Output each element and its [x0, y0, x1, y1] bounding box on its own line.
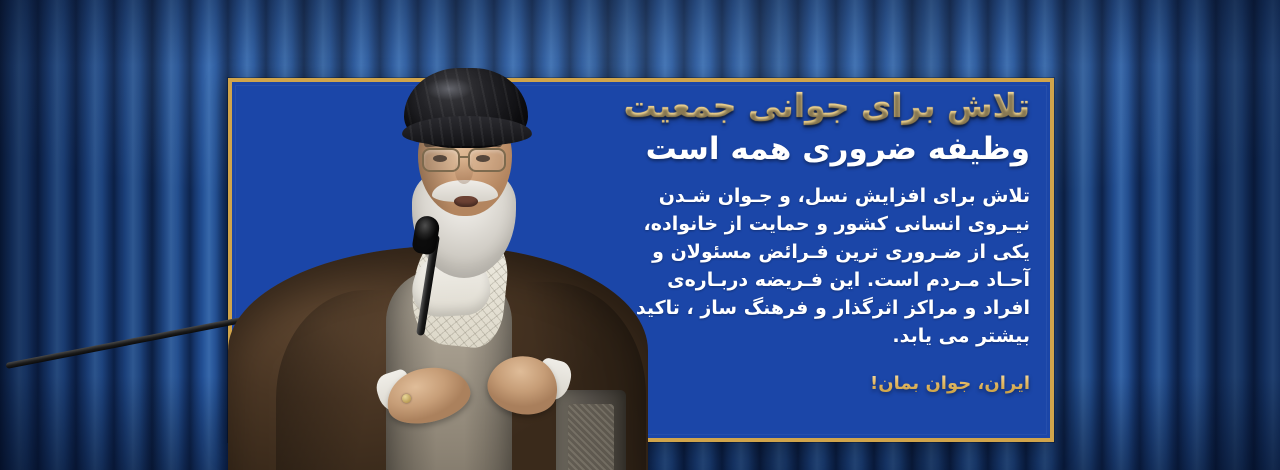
body-line: بیشتر می یابد. [610, 323, 1030, 351]
chair-cushion [568, 404, 614, 470]
mouth [454, 196, 478, 207]
poster-text-column: تلاش برای جوانی جمعیت وظیفه ضروری همه اس… [610, 86, 1030, 394]
body-text: تلاش برای افزایش نسل، و جـوان شـدن نیـرو… [610, 183, 1030, 351]
headline-white: وظیفه ضروری همه است [610, 130, 1030, 169]
headline-gold: تلاش برای جوانی جمعیت [610, 86, 1030, 126]
body-line: نیـروی انسانی کشور و حمایت از خانواده، [610, 211, 1030, 239]
body-line: افراد و مراکز اثرگذار و فرهنگ ساز ، تاکی… [610, 295, 1030, 323]
body-line: تلاش برای افزایش نسل، و جـوان شـدن [610, 183, 1030, 211]
turban-band [402, 116, 532, 146]
body-line: یکی از ضـروری ترین فـرائض مسئولان و [610, 239, 1030, 267]
slogan-text: ایران، جوان بمان! [610, 373, 1030, 394]
eyeglass-bridge [460, 156, 470, 158]
portrait-figure [236, 38, 656, 470]
turban-highlight [422, 76, 476, 102]
banner-stage: تلاش برای جوانی جمعیت وظیفه ضروری همه اس… [0, 0, 1280, 470]
eyeglass-lens-right [468, 148, 506, 172]
eyeglass-lens-left [422, 148, 460, 172]
body-line: آحـاد مـردم است. این فـریضه دربـاره‌ی [610, 267, 1030, 295]
ring [402, 394, 411, 403]
